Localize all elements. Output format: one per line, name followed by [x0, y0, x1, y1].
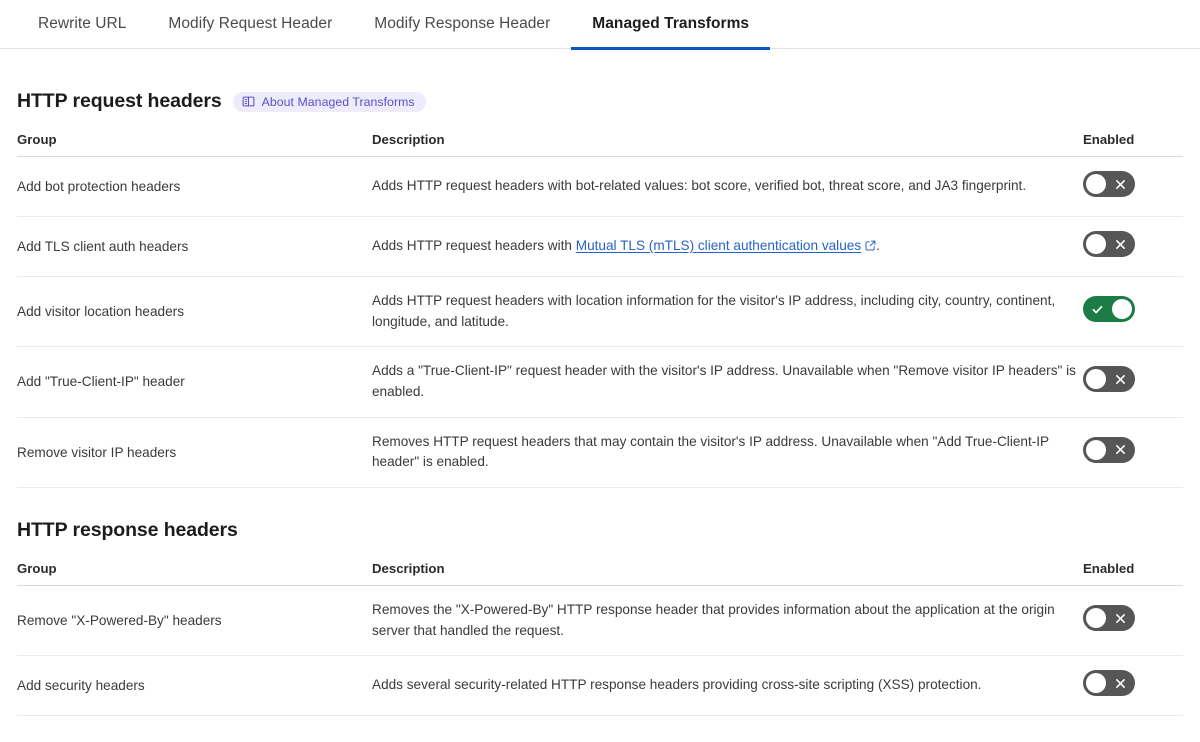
table-row: Add bot protection headers Adds HTTP req…	[17, 157, 1183, 217]
row-enabled-cell	[1083, 347, 1183, 417]
tab-label: Managed Transforms	[592, 15, 749, 33]
tab-modify-request-header[interactable]: Modify Request Header	[147, 0, 353, 49]
column-header-description: Description	[372, 553, 1083, 586]
cross-icon	[1115, 366, 1126, 392]
toggle-knob	[1086, 673, 1106, 693]
description-suffix: .	[876, 238, 880, 253]
request-section-header: HTTP request headers About Managed Trans…	[17, 90, 1183, 113]
row-description: Removes the "X-Powered-By" HTTP response…	[372, 585, 1083, 655]
mtls-client-authentication-link[interactable]: Mutual TLS (mTLS) client authentication …	[576, 238, 861, 253]
row-description: Adds several security-related HTTP respo…	[372, 656, 1083, 716]
page-title-response: HTTP response headers	[17, 519, 238, 542]
toggle-remove-x-powered-by-headers[interactable]	[1083, 605, 1135, 631]
request-headers-table: Group Description Enabled Add bot protec…	[17, 124, 1183, 488]
toggle-knob	[1086, 234, 1106, 254]
table-row: Remove "X-Powered-By" headers Removes th…	[17, 585, 1183, 655]
row-enabled-cell	[1083, 157, 1183, 217]
table-row: Add "True-Client-IP" header Adds a "True…	[17, 347, 1183, 417]
table-header-row: Group Description Enabled	[17, 553, 1183, 586]
cross-icon	[1115, 231, 1126, 257]
cross-icon	[1115, 171, 1126, 197]
cross-icon	[1115, 605, 1126, 631]
toggle-knob	[1112, 299, 1132, 319]
row-enabled-cell	[1083, 585, 1183, 655]
cross-icon	[1115, 670, 1126, 696]
table-header-row: Group Description Enabled	[17, 124, 1183, 157]
check-icon	[1091, 296, 1104, 322]
row-description: Adds HTTP request headers with Mutual TL…	[372, 217, 1083, 277]
column-header-group: Group	[17, 124, 372, 157]
managed-transforms-page: Rewrite URL Modify Request Header Modify…	[0, 0, 1200, 742]
link-label: Mutual TLS (mTLS) client authentication …	[576, 238, 861, 253]
tab-label: Modify Response Header	[374, 15, 550, 33]
row-description: Adds HTTP request headers with bot-relat…	[372, 157, 1083, 217]
toggle-knob	[1086, 174, 1106, 194]
response-section-header: HTTP response headers	[17, 519, 1183, 542]
row-description: Removes HTTP request headers that may co…	[372, 417, 1083, 487]
column-header-description: Description	[372, 124, 1083, 157]
about-managed-transforms-link[interactable]: About Managed Transforms	[233, 92, 426, 112]
book-icon	[242, 95, 255, 108]
row-group-name: Add security headers	[17, 656, 372, 716]
toggle-remove-visitor-ip-headers[interactable]	[1083, 437, 1135, 463]
tab-modify-response-header[interactable]: Modify Response Header	[353, 0, 571, 49]
table-row: Add security headers Adds several securi…	[17, 656, 1183, 716]
tab-bar: Rewrite URL Modify Request Header Modify…	[0, 0, 1200, 49]
row-enabled-cell	[1083, 656, 1183, 716]
tab-rewrite-url[interactable]: Rewrite URL	[17, 0, 147, 49]
external-link-icon[interactable]	[865, 237, 876, 258]
row-group-name: Add "True-Client-IP" header	[17, 347, 372, 417]
row-description: Adds HTTP request headers with location …	[372, 277, 1083, 347]
tab-managed-transforms[interactable]: Managed Transforms	[571, 0, 770, 49]
row-description: Adds a "True-Client-IP" request header w…	[372, 347, 1083, 417]
cross-icon	[1115, 437, 1126, 463]
toggle-knob	[1086, 369, 1106, 389]
column-header-group: Group	[17, 553, 372, 586]
tab-label: Modify Request Header	[168, 15, 332, 33]
row-enabled-cell	[1083, 417, 1183, 487]
page-title-request: HTTP request headers	[17, 90, 222, 113]
row-group-name: Add TLS client auth headers	[17, 217, 372, 277]
row-enabled-cell	[1083, 217, 1183, 277]
toggle-knob	[1086, 608, 1106, 628]
row-enabled-cell	[1083, 277, 1183, 347]
table-row: Remove visitor IP headers Removes HTTP r…	[17, 417, 1183, 487]
toggle-add-security-headers[interactable]	[1083, 670, 1135, 696]
column-header-enabled: Enabled	[1083, 124, 1183, 157]
toggle-add-bot-protection-headers[interactable]	[1083, 171, 1135, 197]
toggle-add-true-client-ip-header[interactable]	[1083, 366, 1135, 392]
toggle-add-visitor-location-headers[interactable]	[1083, 296, 1135, 322]
about-badge-label: About Managed Transforms	[262, 95, 415, 109]
table-row: Add TLS client auth headers Adds HTTP re…	[17, 217, 1183, 277]
response-headers-table: Group Description Enabled Remove "X-Powe…	[17, 553, 1183, 716]
tab-label: Rewrite URL	[38, 15, 126, 33]
row-group-name: Add bot protection headers	[17, 157, 372, 217]
description-prefix: Adds HTTP request headers with	[372, 238, 576, 253]
toggle-add-tls-client-auth-headers[interactable]	[1083, 231, 1135, 257]
column-header-enabled: Enabled	[1083, 553, 1183, 586]
row-group-name: Remove visitor IP headers	[17, 417, 372, 487]
http-request-headers-section: HTTP request headers About Managed Trans…	[0, 90, 1200, 488]
toggle-knob	[1086, 440, 1106, 460]
row-group-name: Remove "X-Powered-By" headers	[17, 585, 372, 655]
table-row: Add visitor location headers Adds HTTP r…	[17, 277, 1183, 347]
row-group-name: Add visitor location headers	[17, 277, 372, 347]
http-response-headers-section: HTTP response headers Group Description …	[0, 519, 1200, 716]
